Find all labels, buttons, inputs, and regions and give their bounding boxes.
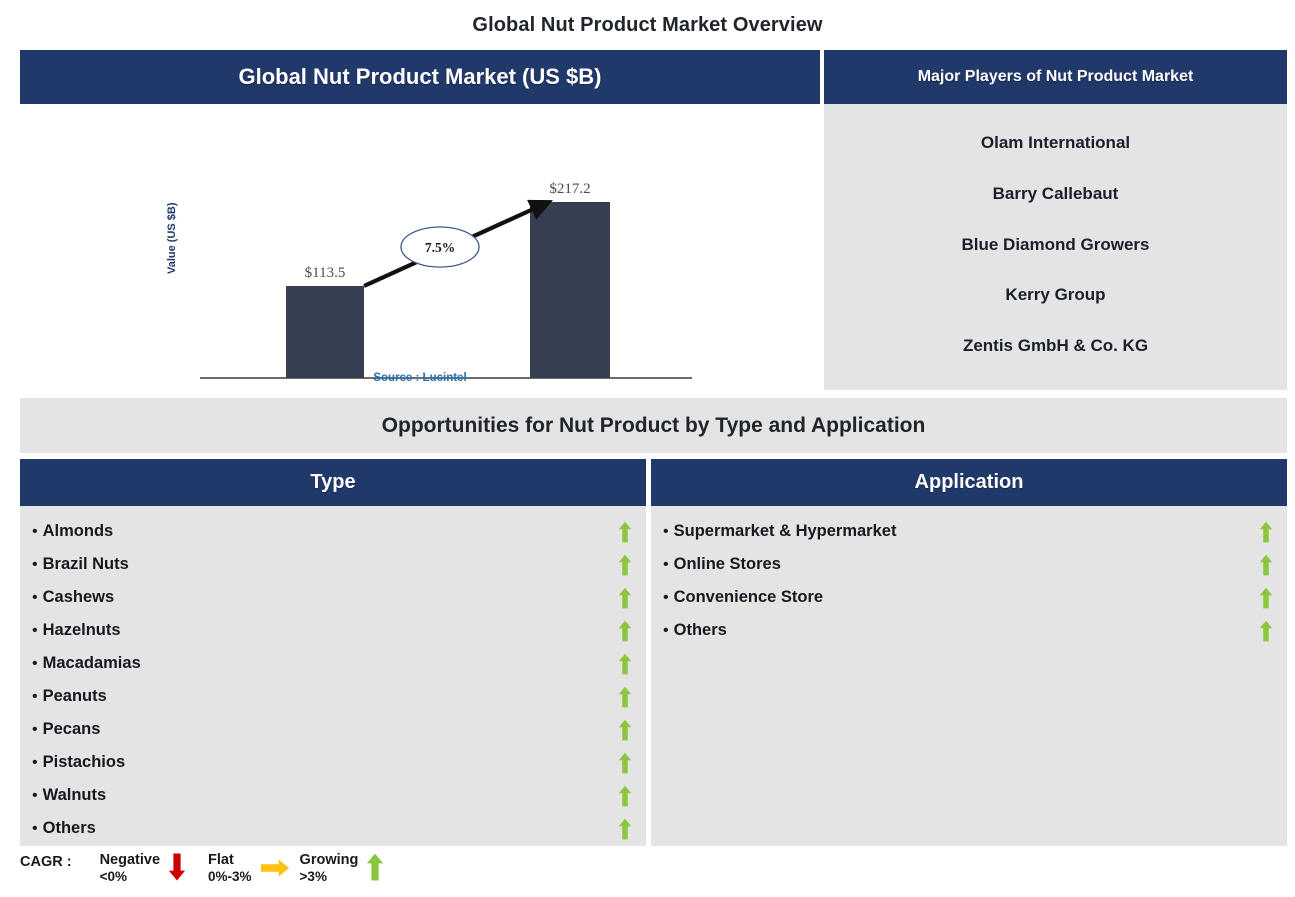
list-item-label: Walnuts <box>43 786 107 805</box>
list-item-label: Macadamias <box>43 654 141 673</box>
arrow-up-icon <box>618 521 632 543</box>
arrow-up-icon <box>618 719 632 741</box>
bullet-icon: • <box>32 557 38 573</box>
bullet-icon: • <box>32 524 38 540</box>
arrow-up-icon <box>618 587 632 609</box>
chart-category-2035: 2035 <box>556 389 584 390</box>
list-item[interactable]: •Cashews <box>20 581 646 614</box>
arrow-down-icon <box>168 852 190 884</box>
chart-category-2026: 2026 <box>311 389 339 390</box>
list-item[interactable]: •Peanuts <box>20 680 646 713</box>
list-item-label: Pistachios <box>43 753 126 772</box>
list-item[interactable]: •Others <box>651 614 1287 647</box>
list-item-label: Peanuts <box>43 687 107 706</box>
list-item[interactable]: •Pistachios <box>20 746 646 779</box>
list-item[interactable]: •Pecans <box>20 713 646 746</box>
market-chart-header: Global Nut Product Market (US $B) <box>20 50 820 104</box>
bullet-icon: • <box>32 755 38 771</box>
list-item-label: Hazelnuts <box>43 621 121 640</box>
arrow-up-icon <box>618 818 632 840</box>
bullet-icon: • <box>32 689 38 705</box>
arrow-up-icon <box>1259 587 1273 609</box>
chart-source-note: Source : Lucintel <box>20 372 820 384</box>
bullet-icon: • <box>32 656 38 672</box>
list-item-label: Convenience Store <box>674 588 823 607</box>
cagr-legend-entry: Negative<0% <box>100 852 200 884</box>
major-players-panel: Major Players of Nut Product Market Olam… <box>824 50 1287 390</box>
cagr-legend-label: CAGR : <box>20 852 72 870</box>
list-item-label: Others <box>43 819 96 838</box>
bar-value-label-2026: $113.5 <box>305 265 346 281</box>
cagr-legend: CAGR : Negative<0%Flat0%-3%Growing>3% <box>20 852 480 896</box>
application-column-header: Application <box>651 459 1287 506</box>
arrow-up-icon <box>618 653 632 675</box>
bullet-icon: • <box>663 524 669 540</box>
bar-2035 <box>530 202 610 378</box>
arrow-up-icon <box>618 554 632 576</box>
list-item-label: Online Stores <box>674 555 781 574</box>
list-item-label: Others <box>674 621 727 640</box>
player-item: Olam International <box>824 134 1287 153</box>
bullet-icon: • <box>32 722 38 738</box>
bullet-icon: • <box>663 557 669 573</box>
arrow-up-icon <box>618 785 632 807</box>
bullet-icon: • <box>32 590 38 606</box>
cagr-callout-value: 7.5% <box>425 240 455 255</box>
cagr-legend-text: Negative<0% <box>100 852 160 884</box>
player-item: Kerry Group <box>824 286 1287 305</box>
list-item[interactable]: •Hazelnuts <box>20 614 646 647</box>
major-players-list: Olam International Barry Callebaut Blue … <box>824 104 1287 390</box>
market-bar-chart: Value (US $B) $113.5 $217.2 2026 2035 <box>20 104 820 390</box>
major-players-header: Major Players of Nut Product Market <box>824 50 1287 104</box>
market-chart-panel: Global Nut Product Market (US $B) Value … <box>20 50 820 390</box>
list-item[interactable]: •Supermarket & Hypermarket <box>651 515 1287 548</box>
arrow-up-icon <box>1259 521 1273 543</box>
arrow-up-icon <box>618 620 632 642</box>
player-item: Barry Callebaut <box>824 185 1287 204</box>
list-item-label: Almonds <box>43 522 114 541</box>
type-column-header: Type <box>20 459 646 506</box>
arrow-up-icon <box>618 752 632 774</box>
cagr-legend-range: 0%-3% <box>208 869 252 885</box>
opportunities-type-column: Type •Almonds•Brazil Nuts•Cashews•Hazeln… <box>20 459 646 846</box>
arrow-up-icon <box>1259 620 1273 642</box>
bullet-icon: • <box>32 821 38 837</box>
arrow-up-icon <box>366 852 388 884</box>
page-title: Global Nut Product Market Overview <box>0 14 1295 37</box>
cagr-legend-text: Flat0%-3% <box>208 852 252 884</box>
cagr-legend-range: <0% <box>100 869 160 885</box>
list-item-label: Cashews <box>43 588 115 607</box>
cagr-legend-entry: Growing>3% <box>300 852 399 884</box>
chart-y-axis-title: Value (US $B) <box>166 154 178 274</box>
list-item-label: Supermarket & Hypermarket <box>674 522 897 541</box>
opportunities-banner: Opportunities for Nut Product by Type an… <box>20 398 1287 453</box>
player-item: Zentis GmbH & Co. KG <box>824 337 1287 356</box>
arrow-up-icon <box>1259 554 1273 576</box>
bullet-icon: • <box>663 590 669 606</box>
cagr-legend-range: >3% <box>300 869 359 885</box>
application-list: •Supermarket & Hypermarket•Online Stores… <box>651 506 1287 647</box>
list-item[interactable]: •Almonds <box>20 515 646 548</box>
bullet-icon: • <box>32 788 38 804</box>
cagr-legend-name: Flat <box>208 852 252 869</box>
list-item-label: Brazil Nuts <box>43 555 129 574</box>
cagr-legend-name: Negative <box>100 852 160 869</box>
bullet-icon: • <box>663 623 669 639</box>
cagr-legend-entries: Negative<0%Flat0%-3%Growing>3% <box>100 852 407 890</box>
list-item[interactable]: •Others <box>20 812 646 845</box>
bar-value-label-2035: $217.2 <box>549 181 590 197</box>
bar-2026 <box>286 286 364 378</box>
list-item[interactable]: •Online Stores <box>651 548 1287 581</box>
arrow-right-icon <box>260 858 282 890</box>
list-item[interactable]: •Brazil Nuts <box>20 548 646 581</box>
list-item-label: Pecans <box>43 720 101 739</box>
cagr-legend-text: Growing>3% <box>300 852 359 884</box>
list-item[interactable]: •Macadamias <box>20 647 646 680</box>
opportunities-application-column: Application •Supermarket & Hypermarket•O… <box>651 459 1287 846</box>
list-item[interactable]: •Walnuts <box>20 779 646 812</box>
cagr-legend-entry: Flat0%-3% <box>208 852 292 890</box>
bullet-icon: • <box>32 623 38 639</box>
player-item: Blue Diamond Growers <box>824 236 1287 255</box>
type-list: •Almonds•Brazil Nuts•Cashews•Hazelnuts•M… <box>20 506 646 845</box>
list-item[interactable]: •Convenience Store <box>651 581 1287 614</box>
arrow-up-icon <box>618 686 632 708</box>
chart-svg: $113.5 $217.2 2026 2035 7.5% <box>20 104 820 390</box>
cagr-legend-name: Growing <box>300 852 359 869</box>
